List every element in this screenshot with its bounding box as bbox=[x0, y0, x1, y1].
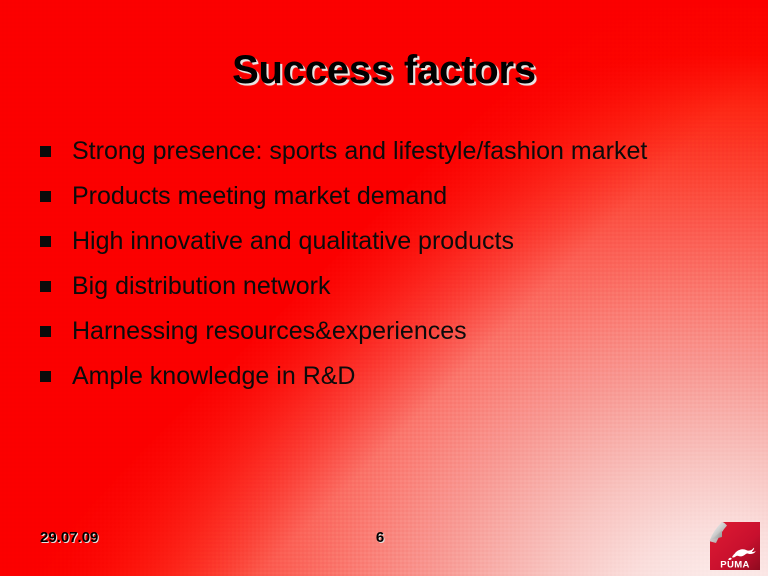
bullet-text: Ample knowledge in R&D bbox=[72, 360, 672, 392]
square-bullet-icon bbox=[40, 236, 51, 247]
square-bullet-icon bbox=[40, 326, 51, 337]
square-bullet-icon bbox=[40, 191, 51, 202]
bullet-list: Strong presence: sports and lifestyle/fa… bbox=[40, 135, 700, 392]
bullet-text: Big distribution network bbox=[72, 270, 672, 302]
bullet-text: Strong presence: sports and lifestyle/fa… bbox=[72, 135, 672, 167]
list-item: Ample knowledge in R&D bbox=[40, 360, 700, 392]
list-item: Harnessing resources&experiences bbox=[40, 315, 700, 347]
bullet-text: High innovative and qualitative products bbox=[72, 225, 672, 257]
list-item: Big distribution network bbox=[40, 270, 700, 302]
list-item: Strong presence: sports and lifestyle/fa… bbox=[40, 135, 700, 167]
square-bullet-icon bbox=[40, 281, 51, 292]
slide-title: Success factors bbox=[0, 48, 768, 93]
bullet-text: Products meeting market demand bbox=[72, 180, 672, 212]
square-bullet-icon bbox=[40, 371, 51, 382]
list-item: Products meeting market demand bbox=[40, 180, 700, 212]
list-item: High innovative and qualitative products bbox=[40, 225, 700, 257]
bullet-text: Harnessing resources&experiences bbox=[72, 315, 672, 347]
square-bullet-icon bbox=[40, 146, 51, 157]
puma-logo: PUMA bbox=[706, 520, 762, 572]
footer-page-number: 6 bbox=[0, 529, 760, 546]
puma-wordmark: PUMA bbox=[720, 560, 750, 571]
slide: Success factors Strong presence: sports … bbox=[0, 0, 768, 576]
